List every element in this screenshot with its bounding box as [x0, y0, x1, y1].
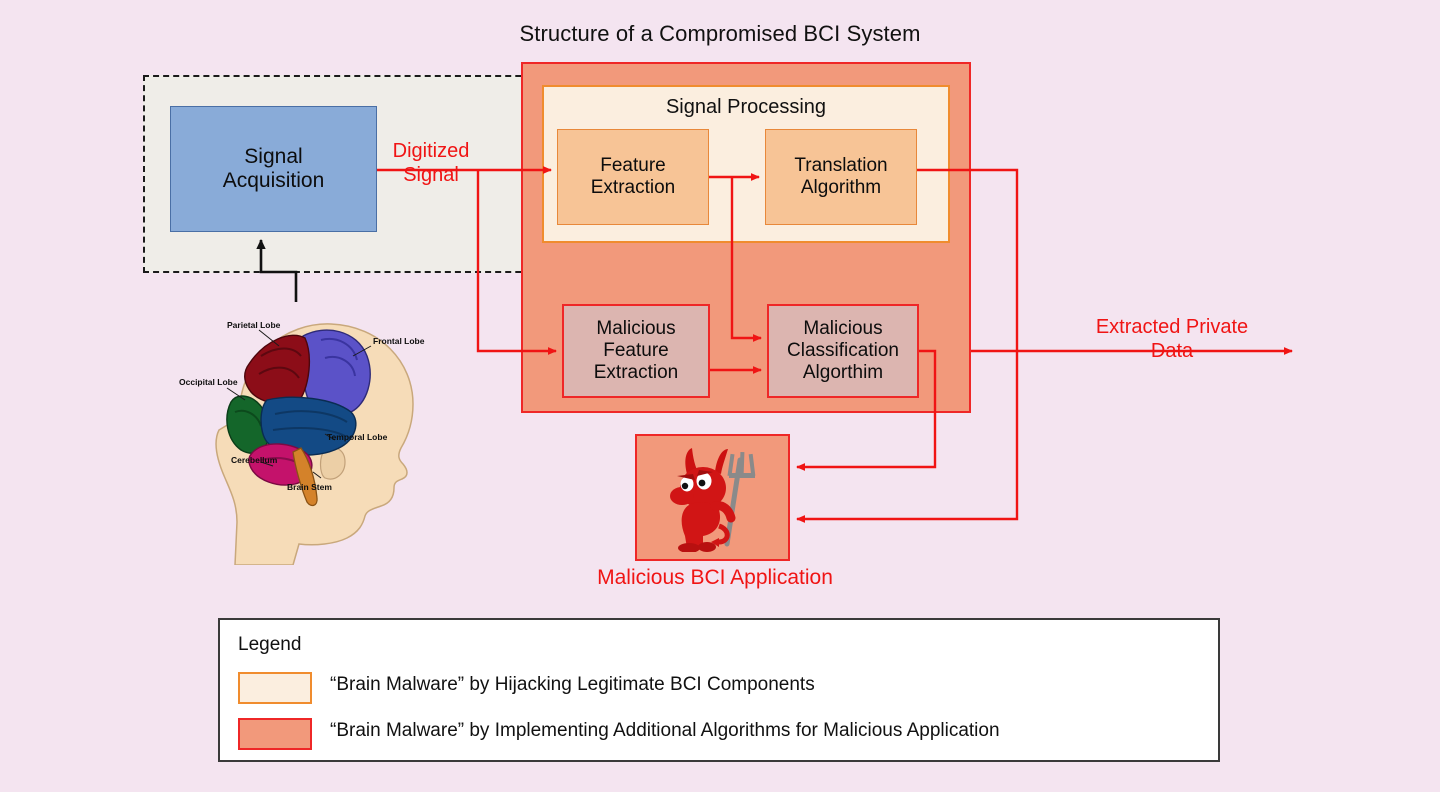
brain-head-illustration: Parietal Lobe Frontal Lobe Occipital Lob… [175, 300, 440, 565]
translation-algorithm-node[interactable]: Translation Algorithm [765, 129, 917, 225]
legend-title: Legend [238, 634, 301, 656]
malicious-classification-node[interactable]: Malicious Classification Algorthim [767, 304, 919, 398]
legend-label-additional-algorithms: “Brain Malware” by Implementing Addition… [330, 720, 1000, 742]
translation-algorithm-label: Translation Algorithm [794, 155, 887, 199]
legend-label-hijacking: “Brain Malware” by Hijacking Legitimate … [330, 674, 815, 696]
signal-acquisition-node[interactable]: Signal Acquisition [170, 106, 377, 232]
malicious-bci-application-caption: Malicious BCI Application [545, 566, 885, 590]
devil-icon [657, 444, 769, 552]
extracted-private-data-label: Extracted Private Data [1042, 316, 1302, 363]
brain-label-occipital: Occipital Lobe [179, 377, 238, 387]
legend-swatch-hijacking [238, 672, 312, 704]
malicious-classification-label: Malicious Classification Algorthim [787, 318, 899, 384]
malicious-feature-extraction-label: Malicious Feature Extraction [594, 318, 678, 384]
brain-label-temporal: Temporal Lobe [327, 432, 388, 442]
signal-processing-label: Signal Processing [542, 96, 950, 119]
signal-acquisition-label: Signal Acquisition [223, 145, 325, 194]
brain-label-parietal: Parietal Lobe [227, 320, 281, 330]
legend-swatch-additional-algorithms [238, 718, 312, 750]
brain-label-cerebellum: Cerebellum [231, 455, 278, 465]
digitized-signal-label: Digitized Signal [372, 140, 490, 187]
malicious-bci-application-node[interactable] [635, 434, 790, 561]
page-title: Structure of a Compromised BCI System [0, 21, 1440, 47]
brain-label-frontal: Frontal Lobe [373, 336, 425, 346]
feature-extraction-node[interactable]: Feature Extraction [557, 129, 709, 225]
malicious-feature-extraction-node[interactable]: Malicious Feature Extraction [562, 304, 710, 398]
brain-label-brainstem: Brain Stem [287, 482, 332, 492]
feature-extraction-label: Feature Extraction [591, 155, 675, 199]
diagram-canvas: Structure of a Compromised BCI System Si… [0, 0, 1440, 792]
